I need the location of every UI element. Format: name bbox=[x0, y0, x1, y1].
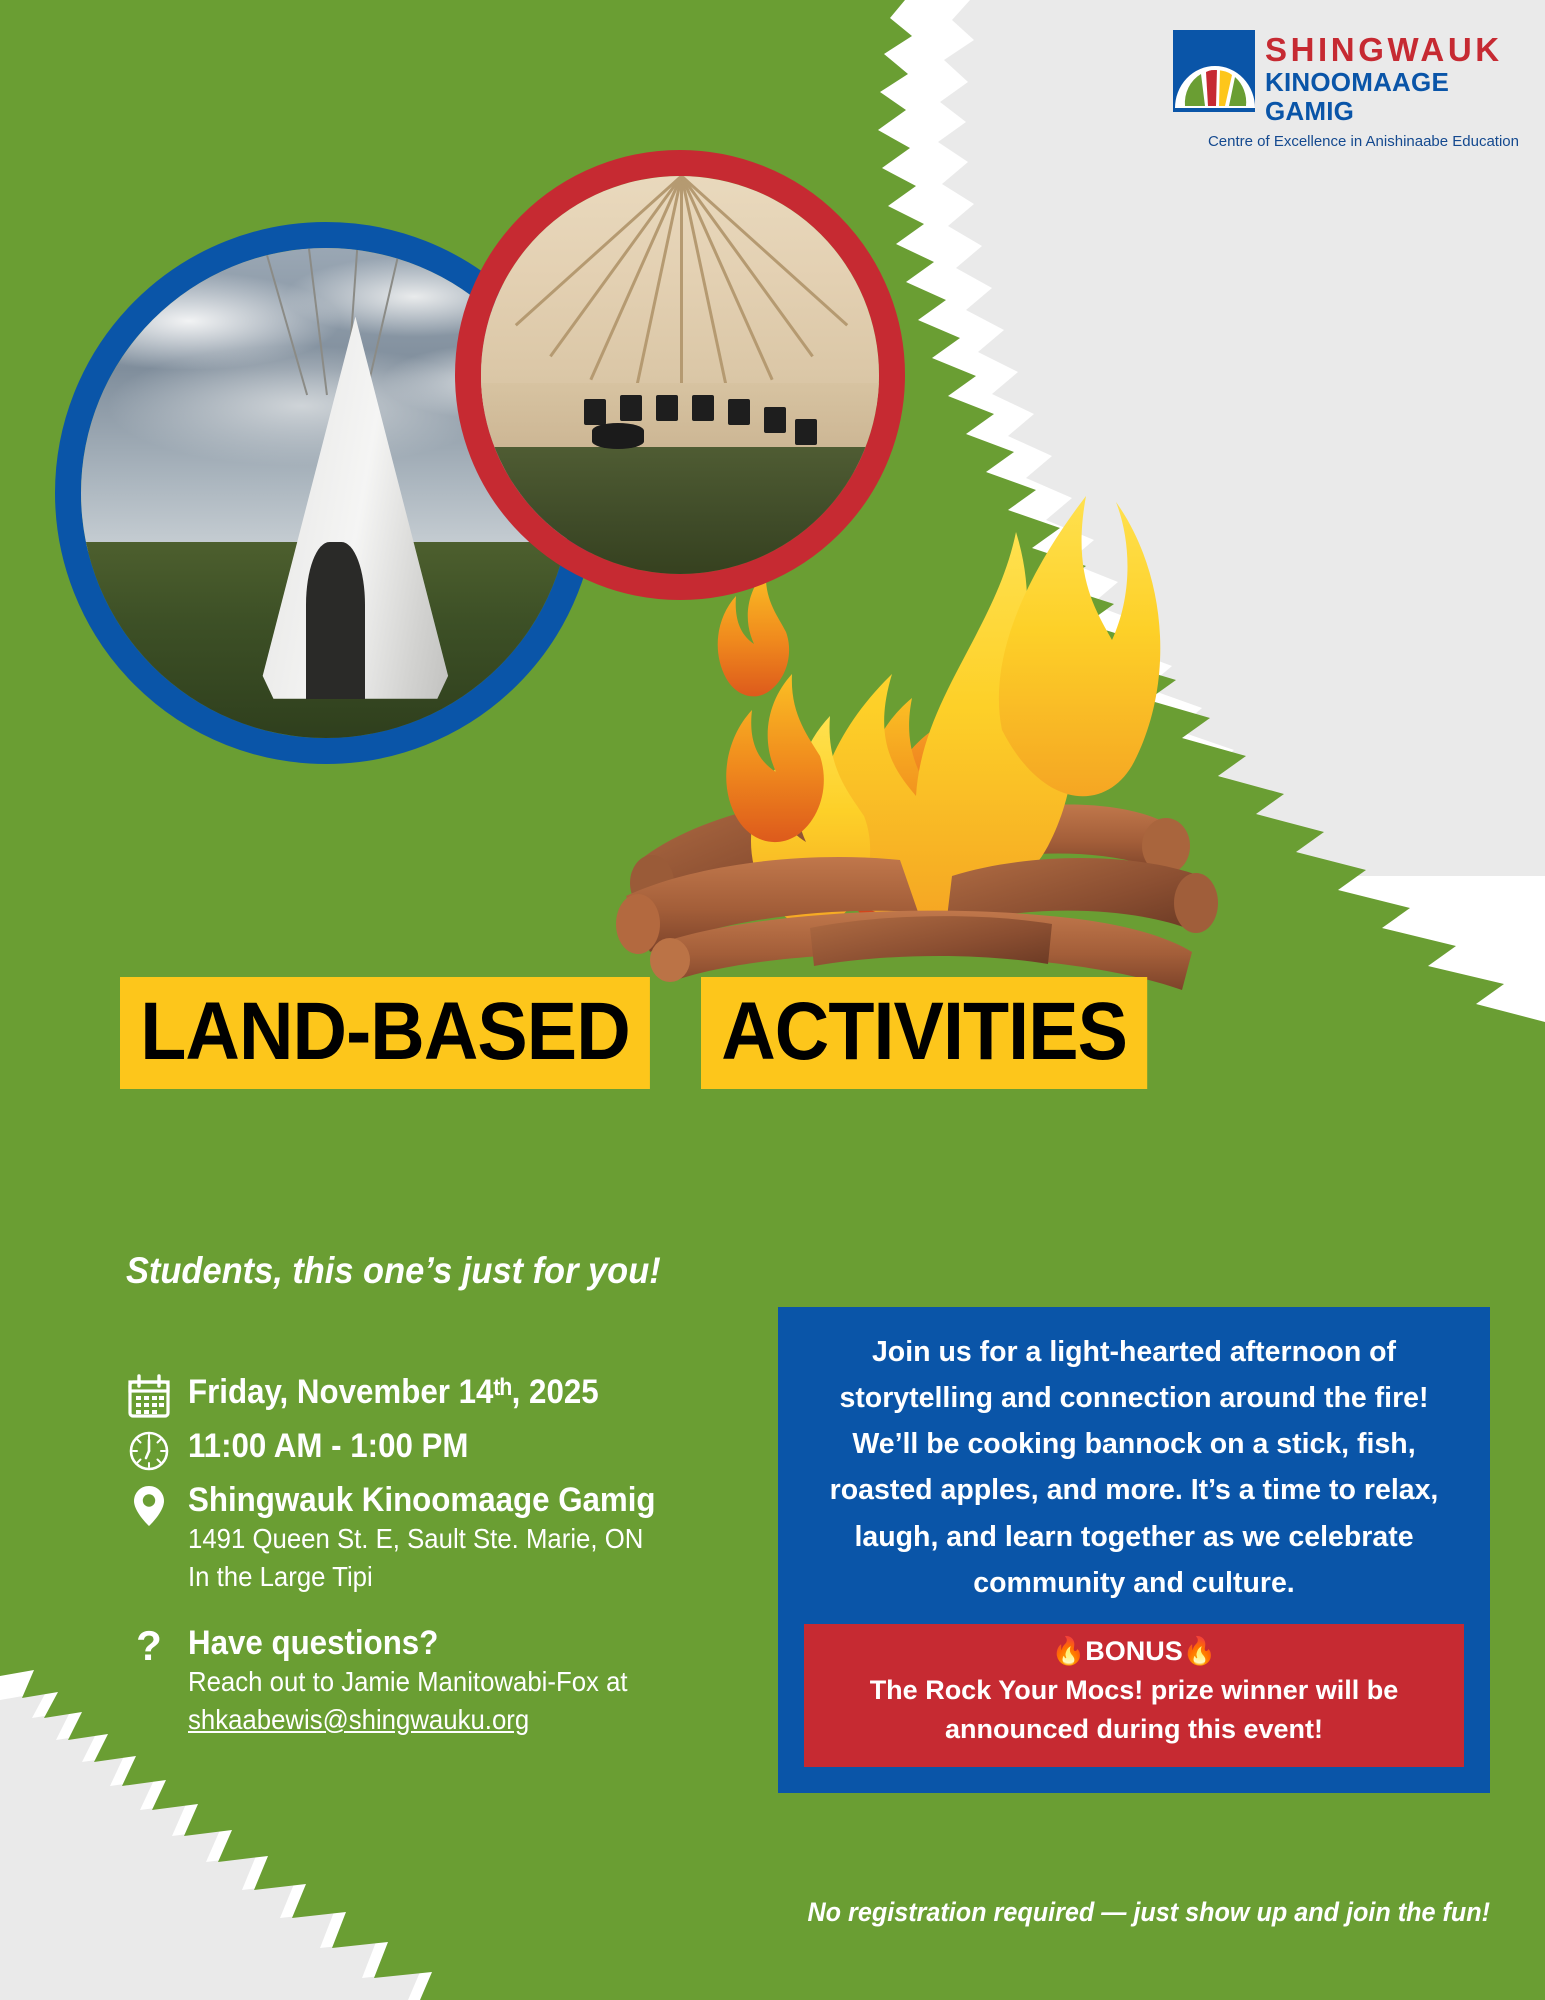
logo-name-line1: SHINGWAUK bbox=[1265, 34, 1519, 66]
title-line-1: LAND-BASED bbox=[120, 977, 650, 1089]
bonus-body-text: The Rock Your Mocs! prize winner will be… bbox=[818, 1671, 1450, 1749]
registration-footnote: No registration required — just show up … bbox=[808, 1897, 1473, 1928]
logo-tagline: Centre of Excellence in Anishinaabe Educ… bbox=[1173, 133, 1519, 150]
detail-row-location: Shingwauk Kinoomaage Gamig 1491 Queen St… bbox=[126, 1480, 696, 1595]
detail-row-time: 11:00 AM - 1:00 PM bbox=[126, 1426, 696, 1474]
detail-row-date: Friday, November 14ᵗʰ, 2025 bbox=[126, 1372, 696, 1420]
logo-name-line2: KINOOMAAGE GAMIG bbox=[1265, 68, 1519, 125]
event-description-panel: Join us for a light-hearted afternoon of… bbox=[778, 1307, 1490, 1793]
detail-venue-note: In the Large Tipi bbox=[188, 1558, 656, 1596]
detail-time-text: 11:00 AM - 1:00 PM bbox=[188, 1426, 468, 1466]
title-line-2: ACTIVITIES bbox=[701, 977, 1147, 1089]
subtitle-tagline: Students, this one’s just for you! bbox=[126, 1250, 661, 1292]
detail-venue-address: 1491 Queen St. E, Sault Ste. Marie, ON bbox=[188, 1520, 656, 1558]
detail-venue-name: Shingwauk Kinoomaage Gamig bbox=[188, 1480, 656, 1520]
contact-person-line: Reach out to Jamie Manitowabi-Fox at bbox=[188, 1663, 628, 1701]
map-pin-icon bbox=[126, 1480, 188, 1528]
organization-logo: SHINGWAUK KINOOMAAGE GAMIG Centre of Exc… bbox=[1173, 30, 1519, 150]
svg-text:?: ? bbox=[136, 1625, 162, 1669]
event-description-text: Join us for a light-hearted afternoon of… bbox=[804, 1329, 1464, 1606]
tipi-door-opening bbox=[306, 542, 365, 699]
poster-canvas: SHINGWAUK KINOOMAAGE GAMIG Centre of Exc… bbox=[0, 0, 1545, 2000]
bonus-heading: 🔥BONUS🔥 bbox=[818, 1634, 1450, 1669]
calendar-icon bbox=[126, 1372, 188, 1420]
event-details-list: Friday, November 14ᵗʰ, 2025 bbox=[126, 1372, 696, 1744]
contact-email-link[interactable]: shkaabewis@shingwauku.org bbox=[188, 1701, 628, 1739]
clock-icon bbox=[126, 1426, 188, 1474]
detail-row-questions: ? Have questions? Reach out to Jamie Man… bbox=[126, 1623, 696, 1738]
question-mark-icon: ? bbox=[126, 1623, 188, 1671]
detail-date-text: Friday, November 14ᵗʰ, 2025 bbox=[188, 1372, 599, 1412]
tipi-interior-photo bbox=[455, 150, 905, 600]
page-title: LAND-BASED ACTIVITIES bbox=[120, 963, 1186, 1089]
dome-lodge-logo-icon bbox=[1173, 30, 1255, 112]
tipi-floor bbox=[481, 447, 879, 574]
bonus-callout-box: 🔥BONUS🔥 The Rock Your Mocs! prize winner… bbox=[804, 1624, 1464, 1767]
questions-heading: Have questions? bbox=[188, 1623, 628, 1663]
